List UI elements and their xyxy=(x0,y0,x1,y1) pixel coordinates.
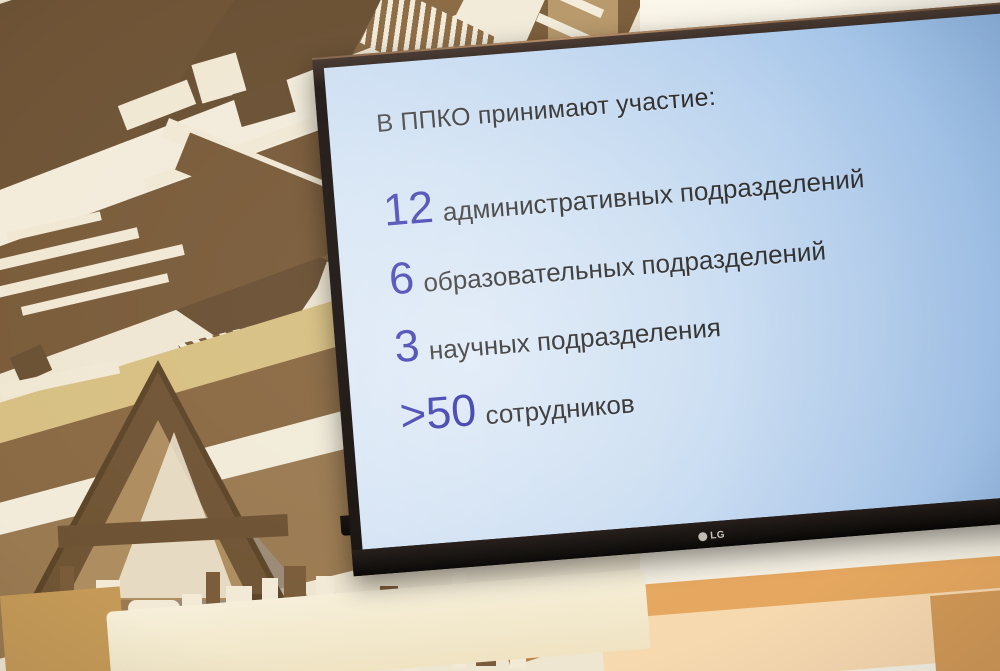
bullet-label: научных подразделения xyxy=(428,314,722,363)
bullet-number: 3 xyxy=(393,325,421,367)
wall-band-right xyxy=(930,589,1000,671)
slide-title: В ППКО принимают участие: xyxy=(375,61,985,139)
lg-television: В ППКО принимают участие: 12 администрат… xyxy=(312,0,1000,576)
bullet-label: образовательных подразделений xyxy=(422,237,826,295)
photo-scene: В ППКО принимают участие: 12 администрат… xyxy=(0,0,1000,671)
bullet-number: >50 xyxy=(398,390,477,436)
presentation-slide: В ППКО принимают участие: 12 администрат… xyxy=(324,12,1000,549)
lg-logo-mark xyxy=(698,532,708,542)
tv-screen[interactable]: В ППКО принимают участие: 12 администрат… xyxy=(324,12,1000,549)
bullet-label: административных подразделений xyxy=(442,165,865,225)
lg-logo-text: LG xyxy=(710,529,726,541)
bullet-number: 6 xyxy=(387,257,415,299)
bullet-number: 12 xyxy=(382,187,435,231)
slide-bullet-list: 12 административных подразделений 6 обра… xyxy=(382,142,1000,436)
bullet-label: сотрудников xyxy=(484,390,635,428)
lg-logo-icon: LG xyxy=(698,529,725,542)
